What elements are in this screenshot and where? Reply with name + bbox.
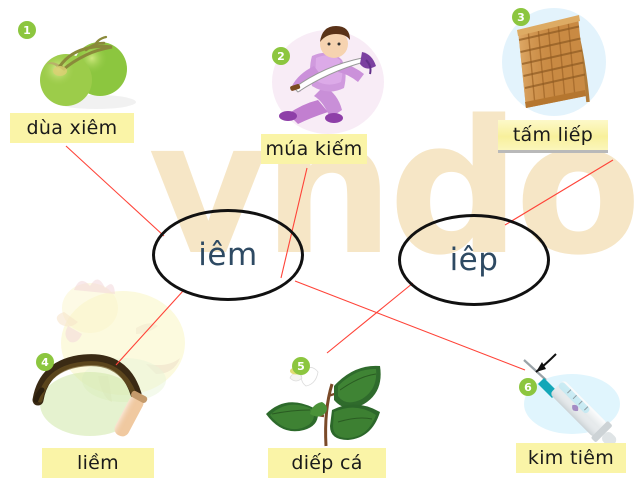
phoneme-label-iep: iêp — [450, 242, 499, 278]
item-number-badge-3: 3 — [512, 8, 530, 26]
phoneme-ellipse-iem[interactable]: iêm — [152, 209, 304, 301]
word-label-dua-xiem[interactable]: dùa xiêm — [10, 113, 134, 143]
line-diep-ca-to-iep — [327, 283, 413, 353]
item-number-badge-2: 2 — [272, 47, 290, 65]
word-label-tam-liep[interactable]: tấm liếp — [498, 120, 608, 153]
sword-dancer-picture — [272, 22, 384, 134]
line-dua-xiem-to-iem — [66, 146, 164, 236]
word-label-kim-tiem[interactable]: kim tiêm — [516, 443, 626, 473]
word-label-diep-ca[interactable]: diếp cá — [268, 448, 386, 478]
phoneme-label-iem: iêm — [198, 237, 257, 273]
phoneme-ellipse-iep[interactable]: iêp — [398, 214, 550, 306]
syringe-picture — [512, 352, 630, 444]
item-number-badge-1: 1 — [18, 21, 36, 39]
matching-worksheet: vndoc — [0, 0, 640, 484]
item-number-badge-6: 6 — [519, 378, 537, 396]
green-coconuts-picture — [24, 22, 142, 114]
line-tam-liep-to-iep — [505, 160, 613, 225]
word-label-mua-kiem[interactable]: múa kiếm — [261, 134, 367, 164]
item-number-badge-4: 4 — [36, 353, 54, 371]
fish-mint-leaves-picture — [252, 350, 398, 448]
word-label-liem[interactable]: liềm — [42, 448, 154, 478]
item-number-badge-5: 5 — [292, 357, 310, 375]
